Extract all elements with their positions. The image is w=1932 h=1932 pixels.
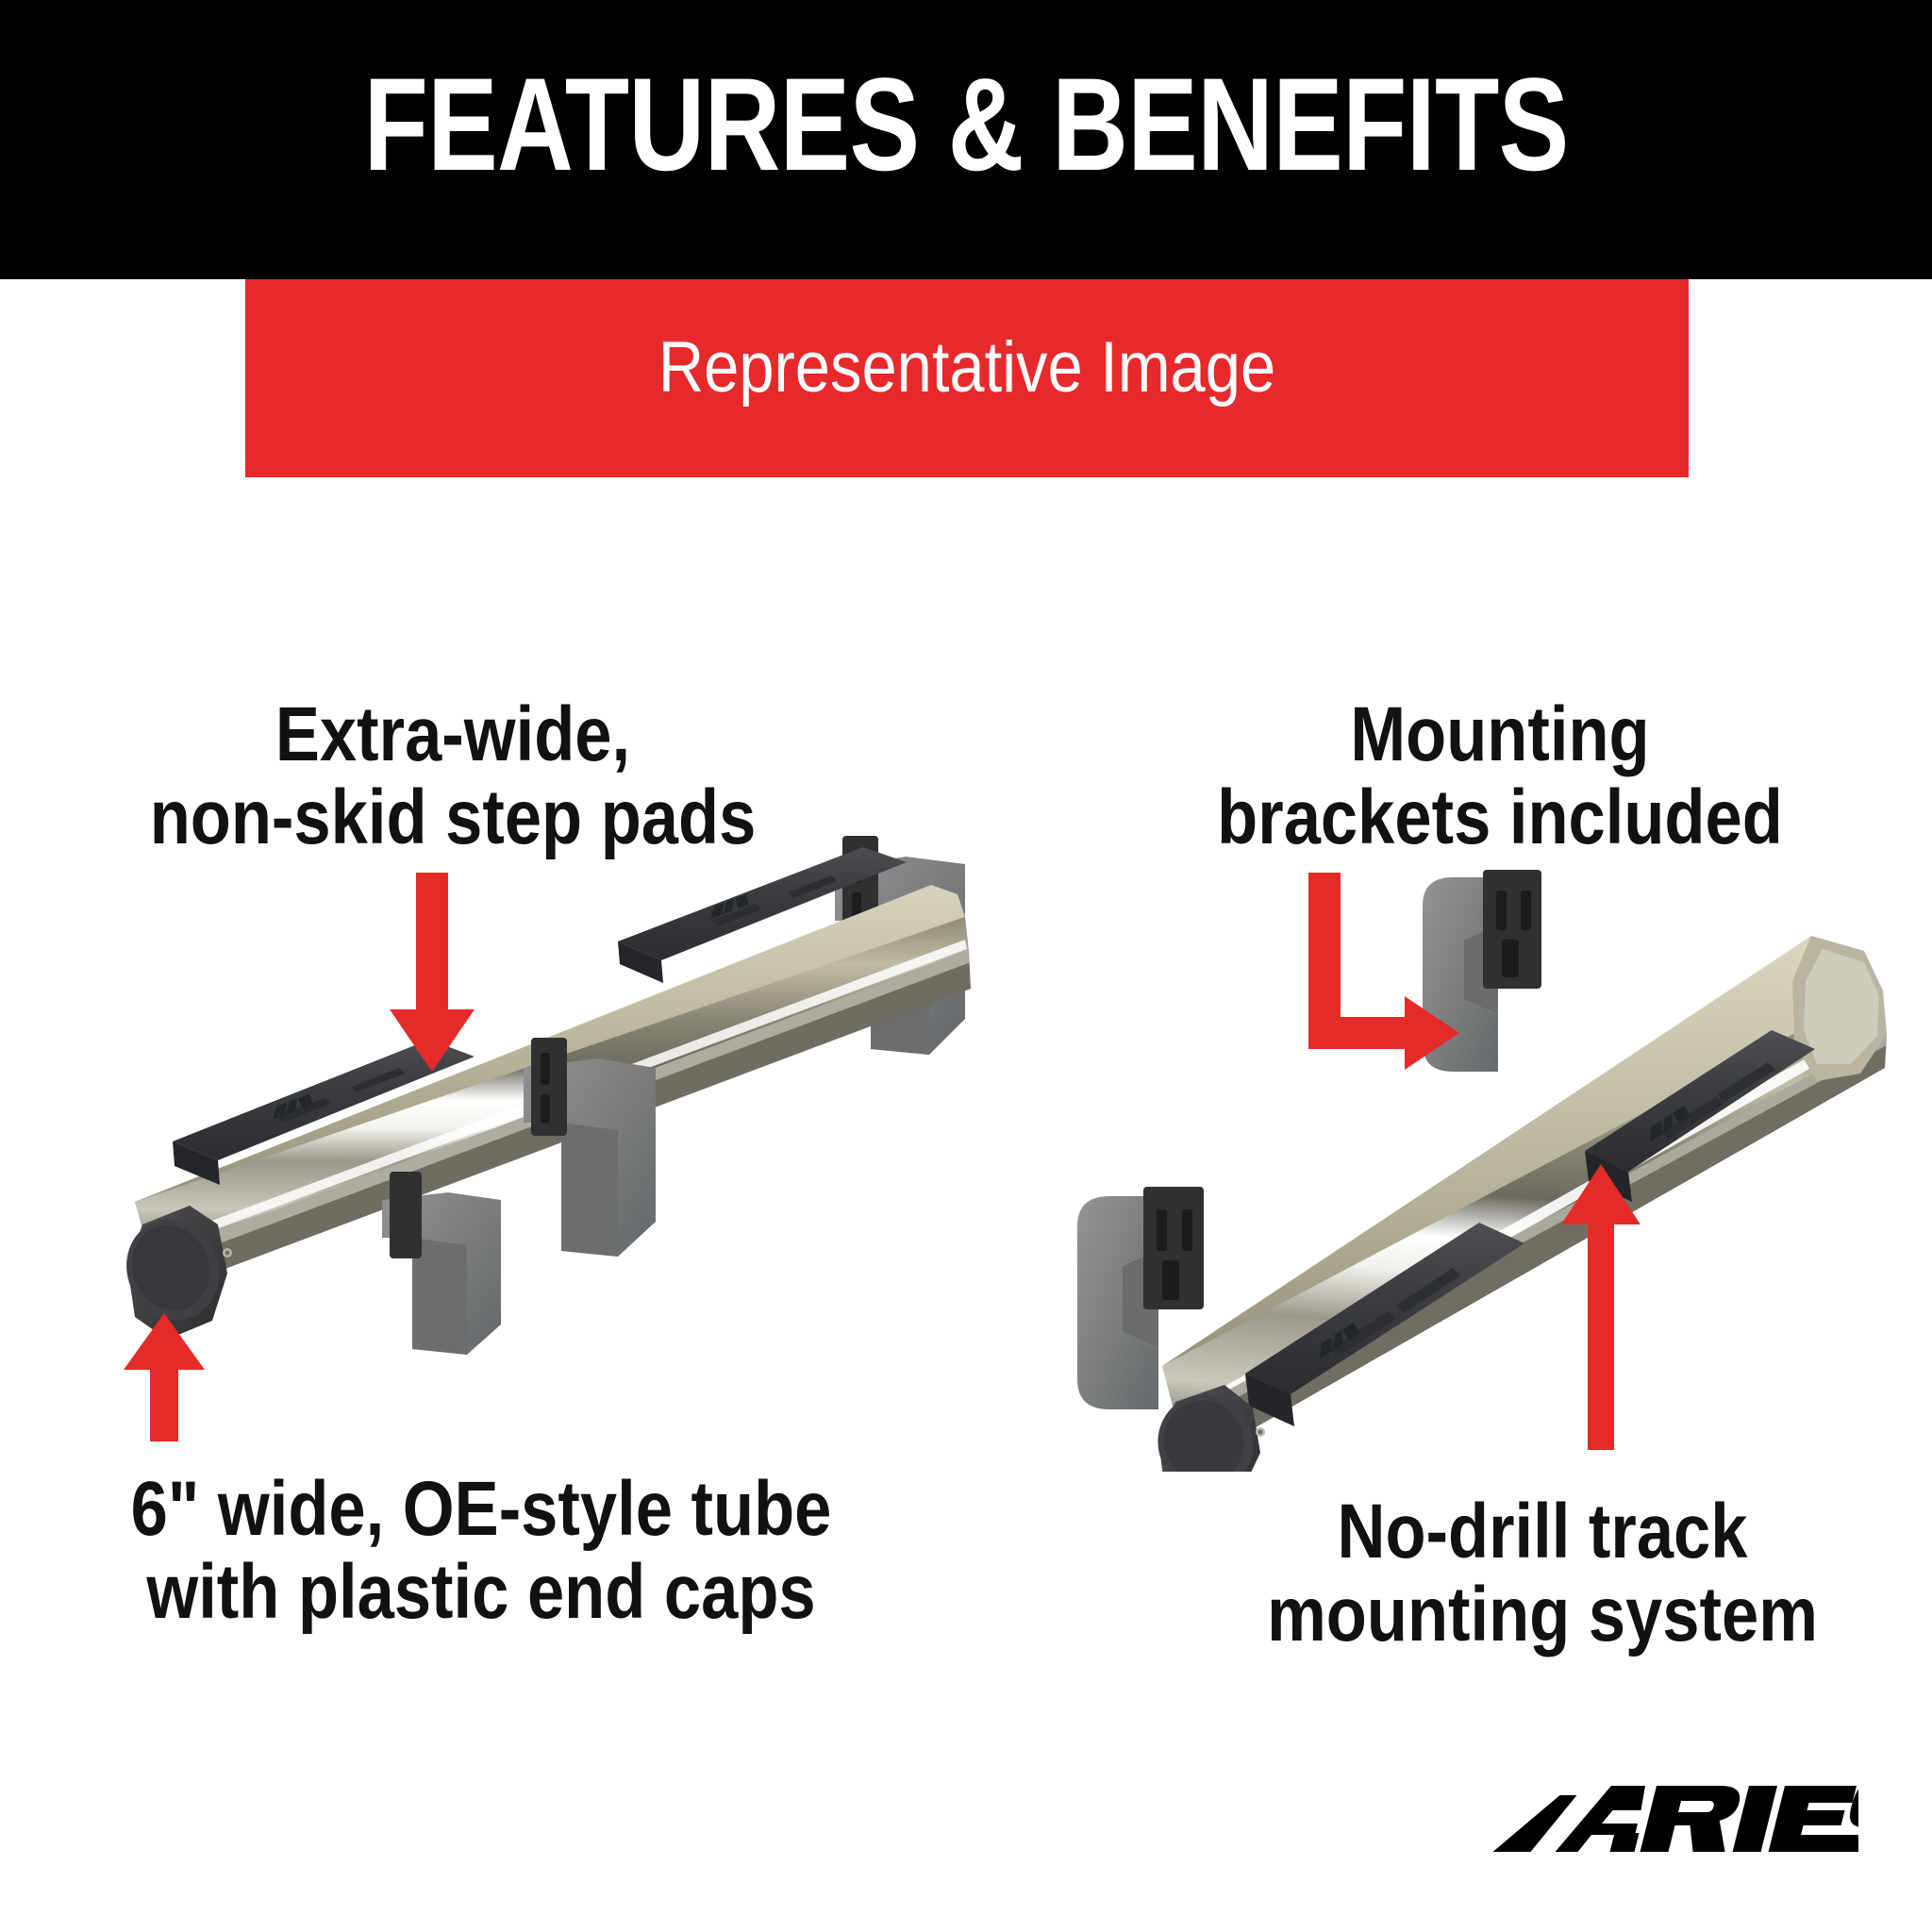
callout-mounting-brackets: Mounting brackets included (1135, 693, 1865, 859)
trademark-symbol: ® (1842, 1784, 1852, 1798)
mounting-bracket (382, 1172, 501, 1355)
aries-logo: ® (1481, 1778, 1858, 1882)
page-title: FEATURES & BENEFITS (193, 58, 1739, 191)
product-image-nerf-bar-left (52, 830, 1014, 1396)
header-bar: FEATURES & BENEFITS (0, 0, 1932, 279)
mounting-bracket (1423, 870, 1541, 1072)
callout-no-drill-track: No-drill track mounting system (1214, 1491, 1872, 1657)
infographic-root: FEATURES & BENEFITS Representative Image… (0, 0, 1932, 1932)
plastic-end-cap (111, 1206, 233, 1340)
callout-oe-style-tube: 6" wide, OE-style tube with plastic end … (92, 1468, 871, 1634)
banner-label: Representative Image (332, 328, 1602, 408)
product-image-nerf-bar-right (1057, 849, 1932, 1472)
representative-image-banner: Representative Image (245, 279, 1689, 477)
